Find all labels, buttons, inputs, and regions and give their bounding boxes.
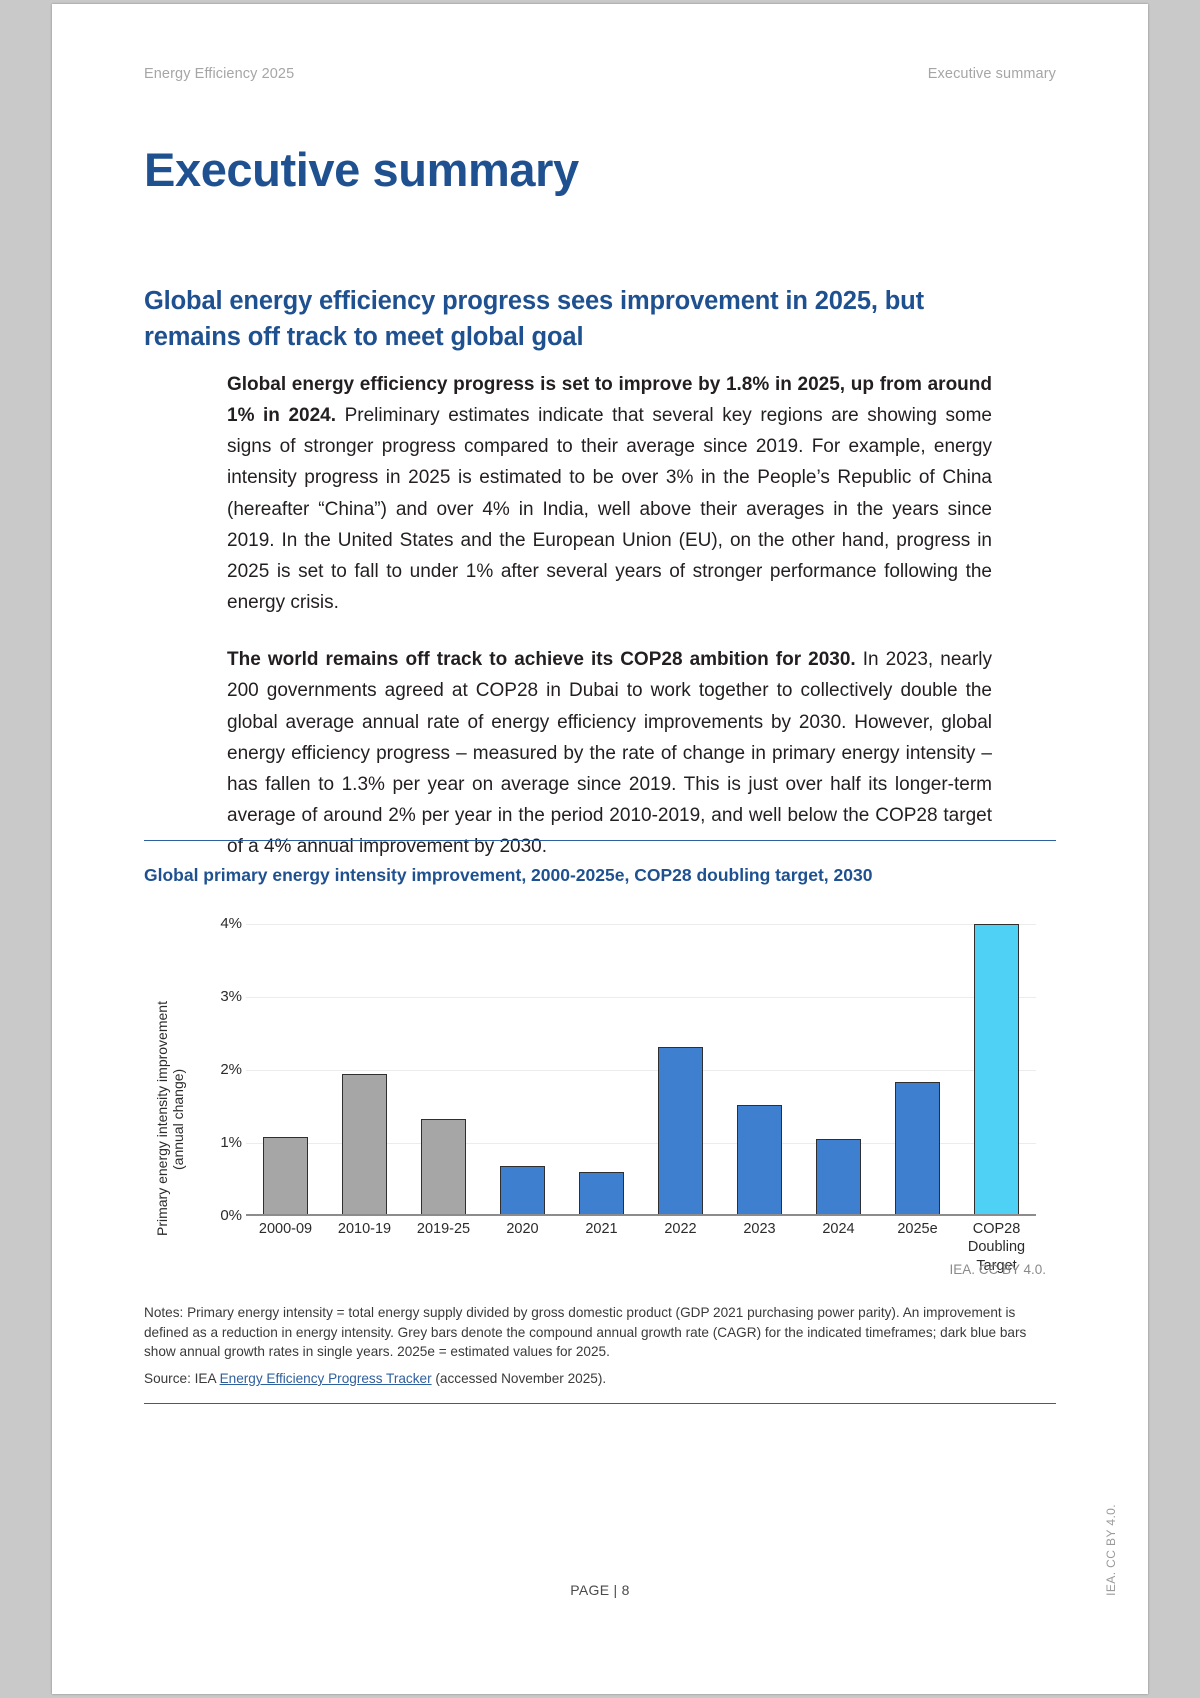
- chart-x-axis-line: [246, 1214, 1036, 1215]
- x-tick-label: 2022: [641, 1220, 720, 1276]
- paragraph-1-rest: Preliminary estimates indicate that seve…: [227, 405, 992, 613]
- chart-bars: [246, 924, 1036, 1216]
- chart-x-tick-labels: 2000-092010-192019-252020202120222023202…: [246, 1220, 1036, 1276]
- figure-source: Source: IEA Energy Efficiency Progress T…: [144, 1369, 1039, 1389]
- chart-plot-area: 0%1%2%3%4%: [246, 924, 1036, 1216]
- y-tick-label: 1%: [172, 1134, 242, 1151]
- bar-slot: [483, 924, 562, 1216]
- bar-slot: [325, 924, 404, 1216]
- page-title: Executive summary: [144, 142, 579, 197]
- body-column: Global energy efficiency progress is set…: [227, 369, 992, 888]
- y-tick-label: 3%: [172, 988, 242, 1005]
- x-tick-label: 2019-25: [404, 1220, 483, 1276]
- paragraph-2-rest: In 2023, nearly 200 governments agreed a…: [227, 649, 992, 857]
- x-tick-label: 2023: [720, 1220, 799, 1276]
- section-heading: Global energy efficiency progress sees i…: [144, 283, 994, 355]
- chart-bar: [974, 924, 1018, 1216]
- chart-bar: [737, 1105, 781, 1216]
- figure-top-rule: [144, 840, 1056, 841]
- chart-bar: [816, 1139, 860, 1216]
- running-head-right: Executive summary: [928, 66, 1056, 82]
- figure-bottom-rule: [144, 1403, 1056, 1404]
- x-tick-label: 2010-19: [325, 1220, 404, 1276]
- figure-notes: Notes: Primary energy intensity = total …: [144, 1303, 1039, 1362]
- running-head-left: Energy Efficiency 2025: [144, 66, 294, 82]
- paragraph-2: The world remains off track to achieve i…: [227, 644, 992, 862]
- bar-slot: [799, 924, 878, 1216]
- source-prefix: Source: IEA: [144, 1371, 220, 1386]
- bar-slot: [641, 924, 720, 1216]
- source-link[interactable]: Energy Efficiency Progress Tracker: [220, 1371, 432, 1386]
- chart-bar: [579, 1172, 623, 1216]
- x-tick-label: 2021: [562, 1220, 641, 1276]
- chart-bar: [342, 1074, 386, 1216]
- chart-bar: [658, 1047, 702, 1216]
- x-tick-label: 2000-09: [246, 1220, 325, 1276]
- document-page: Energy Efficiency 2025 Executive summary…: [52, 4, 1148, 1694]
- figure-title: Global primary energy intensity improvem…: [144, 863, 974, 888]
- bar-slot: [404, 924, 483, 1216]
- chart-bar: [263, 1137, 307, 1216]
- y-tick-label: 2%: [172, 1061, 242, 1078]
- page-footer: PAGE | 8: [52, 1582, 1148, 1598]
- y-tick-label: 0%: [172, 1207, 242, 1224]
- bar-slot: [246, 924, 325, 1216]
- chart-credit: IEA. CC BY 4.0.: [949, 1262, 1046, 1277]
- x-tick-label: 2025e: [878, 1220, 957, 1276]
- source-suffix: (accessed November 2025).: [432, 1371, 607, 1386]
- figure-block: Global primary energy intensity improvem…: [144, 840, 1056, 1404]
- paragraph-2-lead: The world remains off track to achieve i…: [227, 649, 856, 670]
- chart-bar: [895, 1082, 939, 1216]
- x-tick-label: 2020: [483, 1220, 562, 1276]
- figure-notes-block: Notes: Primary energy intensity = total …: [144, 1303, 1039, 1389]
- paragraph-1: Global energy efficiency progress is set…: [227, 369, 992, 618]
- bar-slot: [878, 924, 957, 1216]
- x-tick-label: 2024: [799, 1220, 878, 1276]
- page-number: PAGE | 8: [570, 1582, 629, 1598]
- running-head: Energy Efficiency 2025 Executive summary: [144, 66, 1056, 82]
- chart-bar: [500, 1166, 544, 1216]
- bar-chart: Primary energy intensity improvement (an…: [144, 902, 1056, 1287]
- chart-bar: [421, 1119, 465, 1215]
- y-tick-label: 4%: [172, 915, 242, 932]
- bar-slot: [562, 924, 641, 1216]
- bar-slot: [720, 924, 799, 1216]
- bar-slot: [957, 924, 1036, 1216]
